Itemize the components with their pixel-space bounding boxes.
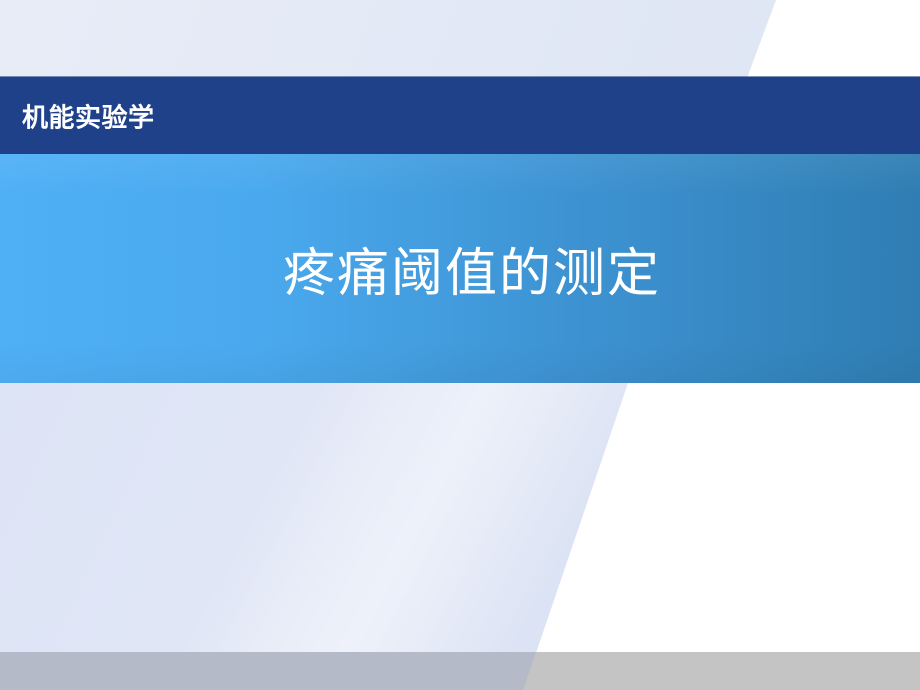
title-banner: 疼痛阈值的测定 <box>0 154 920 383</box>
slide-title: 疼痛阈值的测定 <box>283 231 661 306</box>
course-label: 机能实验学 <box>22 97 155 134</box>
presentation-slide: 机能实验学 疼痛阈值的测定 <box>0 0 920 690</box>
footer-bar-left-segment <box>0 652 920 690</box>
course-header-bar: 机能实验学 <box>0 77 920 154</box>
footer-bar <box>0 652 920 690</box>
